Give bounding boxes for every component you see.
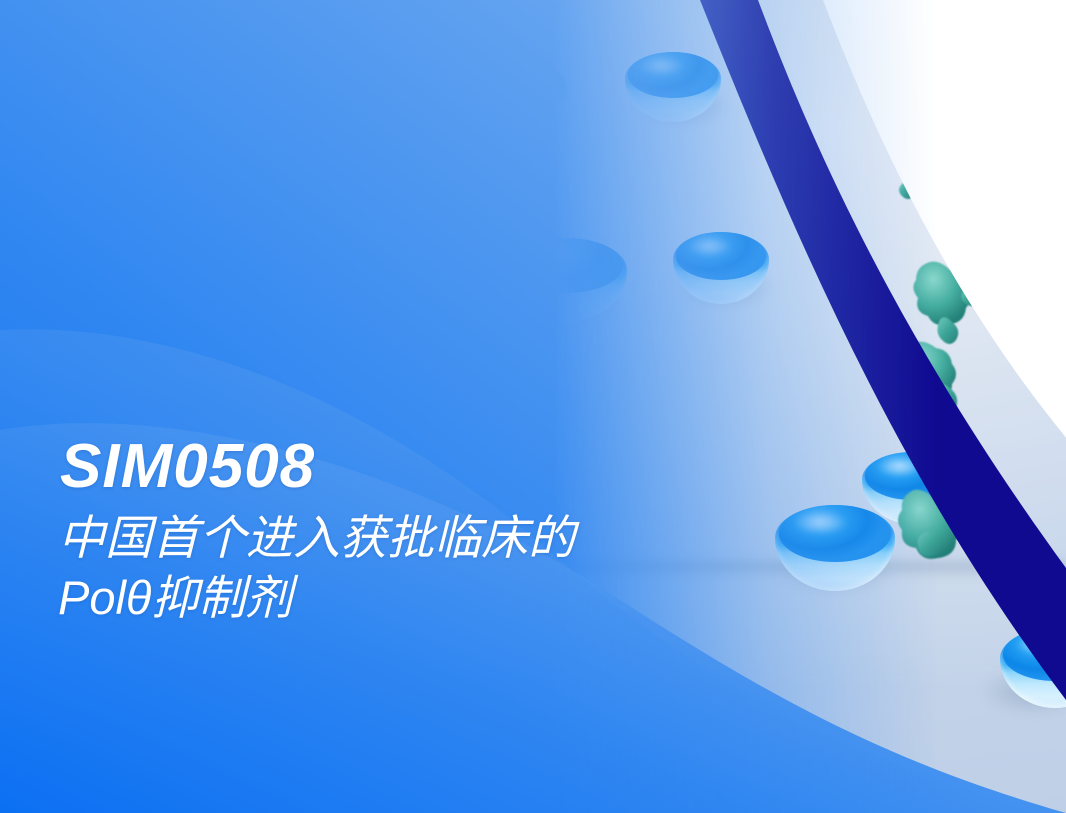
subtitle-line-2: Polθ抑制剂 — [58, 568, 878, 628]
pill-top-left — [455, 58, 567, 136]
product-code-title: SIM0508 — [60, 436, 878, 498]
pill-bottom-right — [1000, 628, 1066, 708]
pill-middle-left — [505, 238, 627, 322]
poster-subtitle: 中国首个进入获批临床的 Polθ抑制剂 — [58, 508, 878, 628]
pill-highlight — [1015, 634, 1066, 656]
poster-slide: SIM0508 中国首个进入获批临床的 Polθ抑制剂 — [0, 0, 1066, 813]
poster-text-block: SIM0508 中国首个进入获批临床的 Polθ抑制剂 — [58, 436, 878, 628]
pill-middle-right — [673, 232, 769, 304]
subtitle-line-1: 中国首个进入获批临床的 — [58, 508, 878, 568]
pill-highlight — [522, 244, 581, 268]
pill-highlight — [638, 57, 684, 77]
protein-molecule — [880, 150, 1066, 570]
pill-top-right — [625, 52, 721, 122]
pill-highlight — [686, 237, 732, 257]
